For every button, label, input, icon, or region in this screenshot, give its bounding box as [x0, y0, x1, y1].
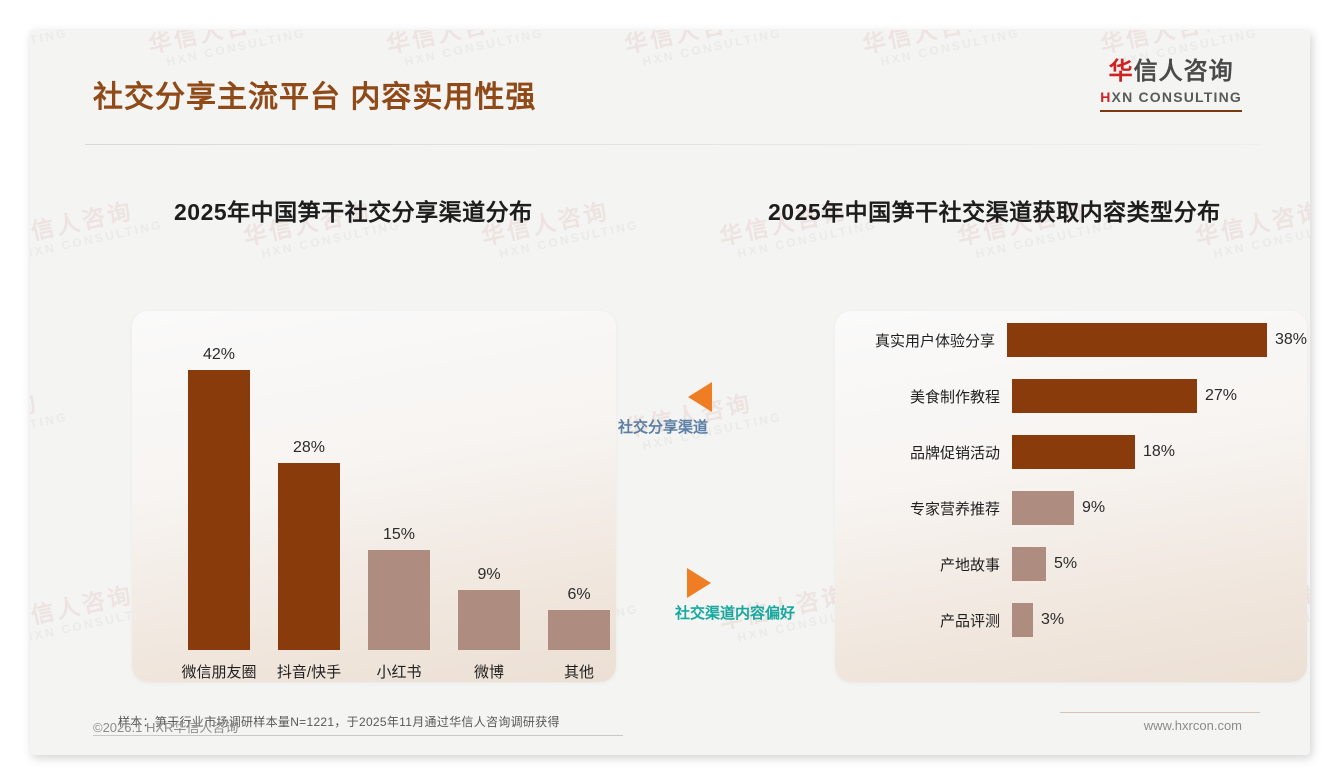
watermark-english: HXN CONSULTING — [30, 410, 69, 453]
triangle-right-icon — [687, 568, 711, 598]
annotation-pref-label: 社交渠道内容偏好 — [675, 602, 795, 623]
slide-canvas: 华信人咨询HXN CONSULTING华信人咨询HXN CONSULTING华信… — [30, 30, 1310, 755]
watermark-chinese: 华信人咨询 — [30, 378, 67, 444]
bar-row[interactable]: 美食制作教程27% — [835, 378, 1307, 414]
bar-value-label: 18% — [1143, 443, 1175, 461]
column-bar[interactable] — [188, 370, 250, 650]
logo-underline — [1100, 110, 1242, 112]
chart-title-right: 2025年中国笋干社交渠道获取内容类型分布 — [768, 193, 1221, 227]
bar-value-label: 3% — [1041, 611, 1064, 629]
bar-row[interactable]: 产品评测3% — [835, 602, 1307, 638]
column-value-label: 6% — [534, 586, 624, 604]
bar-row[interactable]: 品牌促销活动18% — [835, 434, 1307, 470]
watermark: 华信人咨询HXN CONSULTING — [30, 378, 69, 455]
column-bar[interactable] — [368, 550, 430, 650]
column-item[interactable]: 28%抖音/快手 — [264, 370, 354, 650]
column-value-label: 15% — [354, 526, 444, 544]
footer-divider-right — [1060, 712, 1260, 713]
bar-row[interactable]: 真实用户体验分享38% — [835, 322, 1307, 358]
brand-logo: 华信人咨询 HXN CONSULTING — [1100, 60, 1242, 112]
watermark-english: HXN CONSULTING — [30, 218, 164, 261]
bar-row[interactable]: 产地故事5% — [835, 546, 1307, 582]
bar-track: 3% — [1012, 603, 1307, 637]
bar-fill[interactable] — [1012, 379, 1197, 413]
column-bar[interactable] — [278, 463, 340, 650]
column-value-label: 28% — [264, 439, 354, 457]
annotation-content-preference: 社交渠道内容偏好 — [685, 568, 795, 623]
column-category-label: 微博 — [474, 661, 504, 682]
logo-chinese-red: 华 — [1109, 58, 1134, 85]
bar-row[interactable]: 专家营养推荐9% — [835, 490, 1307, 526]
column-category-label: 抖音/快手 — [277, 661, 341, 682]
column-bar[interactable] — [548, 610, 610, 650]
column-value-label: 9% — [444, 566, 534, 584]
chart-title-left: 2025年中国笋干社交分享渠道分布 — [174, 193, 533, 227]
watermark: 华信人咨询HXN CONSULTING — [30, 186, 164, 263]
bar-fill[interactable] — [1012, 547, 1046, 581]
header-divider — [85, 144, 1260, 145]
triangle-left-icon — [688, 382, 712, 412]
horizontal-bar-chart: 真实用户体验分享38%美食制作教程27%品牌促销活动18%专家营养推荐9%产地故… — [835, 322, 1307, 662]
bar-track: 38% — [1007, 323, 1307, 357]
column-category-label: 小红书 — [376, 661, 421, 682]
bar-value-label: 38% — [1275, 331, 1307, 349]
bar-fill[interactable] — [1012, 435, 1135, 469]
column-item[interactable]: 9%微博 — [444, 370, 534, 650]
page-title: 社交分享主流平台 内容实用性强 — [93, 72, 536, 116]
column-item[interactable]: 6%其他 — [534, 370, 624, 650]
bar-value-label: 5% — [1054, 555, 1077, 573]
column-bar[interactable] — [458, 590, 520, 650]
bar-track: 18% — [1012, 435, 1307, 469]
bar-fill[interactable] — [1012, 491, 1074, 525]
bar-value-label: 27% — [1205, 387, 1237, 405]
website-url: www.hxrcon.com — [1144, 718, 1242, 733]
bar-fill[interactable] — [1007, 323, 1267, 357]
bar-category-label: 产品评测 — [835, 610, 1012, 631]
watermark-english: HXN CONSULTING — [1212, 218, 1310, 261]
logo-chinese-rest: 信人咨询 — [1134, 58, 1234, 85]
bar-fill[interactable] — [1012, 603, 1033, 637]
bar-category-label: 真实用户体验分享 — [835, 330, 1007, 351]
column-item[interactable]: 15%小红书 — [354, 370, 444, 650]
copyright-text: ©2026.1 HXR华信人咨询 — [93, 717, 238, 736]
annotation-share-label: 社交分享渠道 — [618, 416, 712, 437]
bar-track: 5% — [1012, 547, 1307, 581]
bar-track: 9% — [1012, 491, 1307, 525]
bar-category-label: 产地故事 — [835, 554, 1012, 575]
bar-track: 27% — [1012, 379, 1307, 413]
bar-value-label: 9% — [1082, 499, 1105, 517]
bar-category-label: 专家营养推荐 — [835, 498, 1012, 519]
column-category-label: 微信朋友圈 — [181, 661, 256, 682]
column-value-label: 42% — [174, 346, 264, 364]
column-category-label: 其他 — [564, 661, 594, 682]
logo-english-rest: XN CONSULTING — [1112, 89, 1242, 105]
logo-english: HXN CONSULTING — [1100, 90, 1242, 104]
column-chart: 42%微信朋友圈28%抖音/快手15%小红书9%微博6%其他 — [132, 290, 616, 650]
bar-category-label: 品牌促销活动 — [835, 442, 1012, 463]
watermark-chinese: 华信人咨询 — [30, 186, 162, 252]
logo-english-red: H — [1100, 89, 1111, 105]
bar-category-label: 美食制作教程 — [835, 386, 1012, 407]
slide-header: 社交分享主流平台 内容实用性强 华信人咨询 HXN CONSULTING — [30, 30, 1310, 130]
logo-chinese: 华信人咨询 — [1100, 60, 1242, 84]
annotation-social-share-channel: 社交分享渠道 — [670, 382, 712, 437]
column-item[interactable]: 42%微信朋友圈 — [174, 370, 264, 650]
